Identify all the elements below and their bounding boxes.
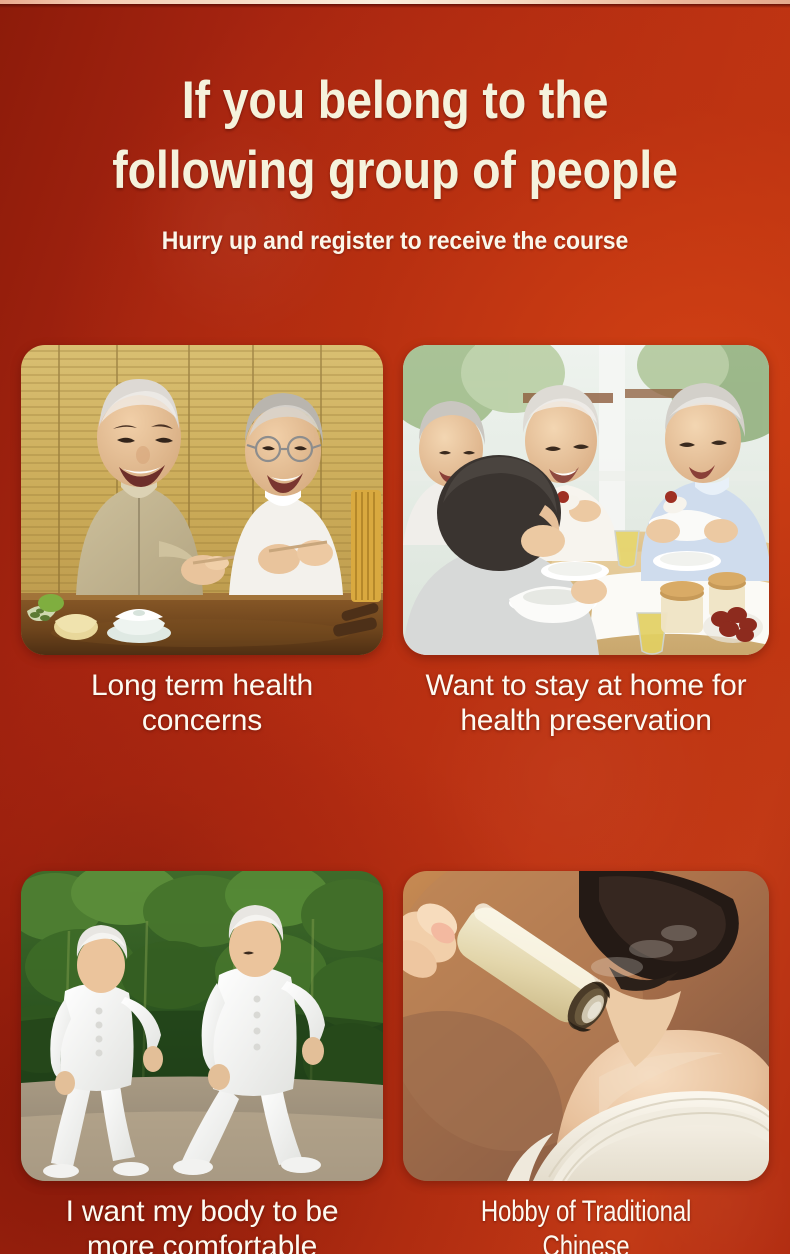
page-title-line-2: following group of people <box>83 136 708 206</box>
photo-taichi-seniors <box>21 871 383 1181</box>
card-caption-line-1: Hobby of Traditional Chinese <box>443 1194 729 1254</box>
card-caption-line-2: health preservation <box>407 703 765 738</box>
card-caption: I want my body to be more comfortable <box>21 1194 383 1254</box>
card-caption-line-1: I want my body to be <box>25 1194 379 1229</box>
card-caption-line-1: Want to stay at home for <box>407 668 765 703</box>
header: If you belong to the following group of … <box>0 0 790 256</box>
photo-taichi-seniors-art <box>21 871 383 1181</box>
card-caption-line-2: more comfortable <box>25 1229 379 1254</box>
photo-moxibustion-treatment-art <box>403 871 769 1181</box>
top-accent-shadow <box>0 4 790 8</box>
card-caption-line-1: Long term health <box>25 668 379 703</box>
card-body-more-comfortable[interactable]: I want my body to be more comfortable <box>21 871 383 1254</box>
benefit-card-grid: Long term health concerns <box>21 345 769 1254</box>
promo-page: If you belong to the following group of … <box>0 0 790 1254</box>
card-caption: Hobby of Traditional Chinese Medicine fo… <box>440 1194 733 1254</box>
card-caption: Want to stay at home for health preserva… <box>403 668 769 739</box>
page-subtitle: Hurry up and register to receive the cou… <box>32 227 759 256</box>
card-tcm-health-preservation-hobby[interactable]: Hobby of Traditional Chinese Medicine fo… <box>403 871 769 1254</box>
top-accent-strip <box>0 0 790 4</box>
page-title-line-1: If you belong to the <box>83 66 708 136</box>
photo-elderly-couple-tea <box>21 345 383 655</box>
card-stay-at-home-health-preservation[interactable]: Want to stay at home for health preserva… <box>403 345 769 739</box>
page-title: If you belong to the following group of … <box>47 66 742 207</box>
photo-moxibustion-treatment <box>403 871 769 1181</box>
card-caption: Long term health concerns <box>21 668 383 739</box>
photo-elderly-couple-tea-art <box>21 345 383 655</box>
photo-seniors-shared-meal <box>403 345 769 655</box>
photo-seniors-shared-meal-art <box>403 345 769 655</box>
card-caption-line-2: concerns <box>25 703 379 738</box>
card-long-term-health-concerns[interactable]: Long term health concerns <box>21 345 383 739</box>
